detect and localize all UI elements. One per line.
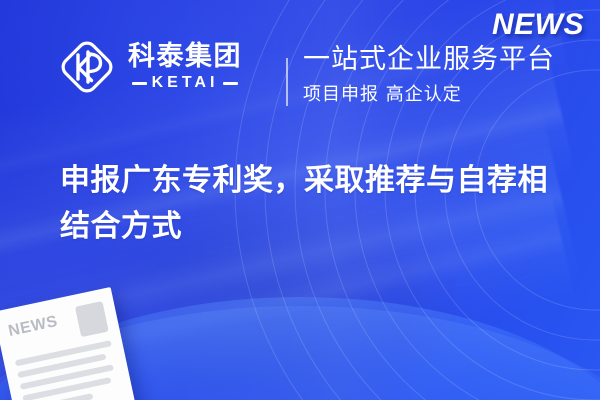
newspaper-masthead: NEWS	[6, 309, 71, 340]
brand-rule-right	[223, 82, 238, 85]
brand-rule-left	[132, 82, 147, 85]
article-headline: 申报广东专利奖，采取推荐与自荐相结合方式	[60, 158, 560, 249]
banner-header: 科泰集团 KETAI 一站式企业服务平台 项目申报 高企认定 NEWS	[0, 0, 600, 128]
news-banner: 科泰集团 KETAI 一站式企业服务平台 项目申报 高企认定 NEWS 申报广东…	[0, 0, 600, 400]
brand-logo[interactable]: 科泰集团 KETAI	[58, 38, 242, 96]
newspaper-thumbnail	[75, 301, 109, 337]
tagline-block: 一站式企业服务平台 项目申报 高企认定	[303, 44, 555, 106]
tagline-secondary: 项目申报 高企认定	[303, 80, 555, 106]
brand-name-cn: 科泰集团	[128, 43, 242, 70]
brand-name-en: KETAI	[152, 75, 219, 91]
brand-name-en-row: KETAI	[132, 75, 239, 91]
ketai-diamond-kp-icon	[58, 38, 116, 96]
tagline-primary: 一站式企业服务平台	[303, 44, 555, 75]
brand-wordmark: 科泰集团 KETAI	[128, 43, 242, 91]
newspaper-text-lines	[15, 340, 122, 400]
header-divider	[286, 58, 288, 106]
news-badge: NEWS	[492, 8, 584, 42]
